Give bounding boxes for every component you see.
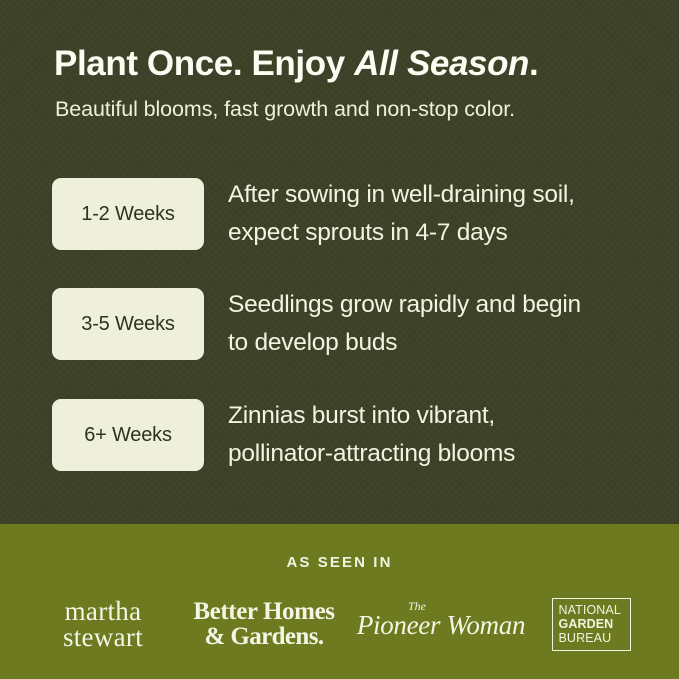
- timeline-list: 1-2 Weeks After sowing in well-draining …: [0, 0, 679, 524]
- logo-ngb-box: NATIONAL GARDEN BUREAU: [552, 598, 631, 651]
- timeline-badge-label: 3-5 Weeks: [81, 313, 174, 336]
- logo-the-pioneer-woman: The Pioneer Woman: [352, 584, 530, 664]
- timeline-badge: 6+ Weeks: [52, 399, 204, 471]
- logo-national-garden-bureau: NATIONAL GARDEN BUREAU: [530, 584, 652, 664]
- logo-pioneer-woman-main: Pioneer Woman: [356, 610, 526, 640]
- timeline-description: After sowing in well-draining soil, expe…: [228, 176, 648, 252]
- timeline-row: 3-5 Weeks Seedlings grow rapidly and beg…: [52, 288, 652, 360]
- timeline-badge: 1-2 Weeks: [52, 178, 204, 250]
- timeline-row: 1-2 Weeks After sowing in well-draining …: [52, 178, 652, 250]
- press-logo-list: martha stewart Better Homes & Gardens. T…: [0, 584, 679, 664]
- timeline-row: 6+ Weeks Zinnias burst into vibrant, pol…: [52, 399, 652, 471]
- logo-better-homes-and-gardens: Better Homes & Gardens.: [178, 584, 350, 664]
- timeline-description: Zinnias burst into vibrant, pollinator-a…: [228, 397, 648, 473]
- logo-ngb-line1: NATIONAL: [559, 603, 621, 617]
- logo-martha-stewart-line2: stewart: [63, 624, 143, 650]
- logo-bhg-line1: Better Homes: [193, 599, 334, 624]
- logo-martha-stewart: martha stewart: [28, 584, 178, 664]
- as-seen-in-heading: AS SEEN IN: [0, 554, 679, 571]
- timeline-badge-label: 6+ Weeks: [84, 424, 172, 447]
- logo-ngb-line2: GARDEN: [559, 617, 614, 631]
- timeline-description: Seedlings grow rapidly and begin to deve…: [228, 286, 648, 362]
- promo-poster: Plant Once. Enjoy All Season. Beautiful …: [0, 0, 679, 679]
- logo-martha-stewart-line1: martha: [63, 598, 143, 624]
- logo-bhg-line2: & Gardens.: [193, 624, 334, 649]
- as-seen-in-footer: AS SEEN IN martha stewart Better Homes &…: [0, 524, 679, 679]
- timeline-badge-label: 1-2 Weeks: [81, 203, 174, 226]
- timeline-badge: 3-5 Weeks: [52, 288, 204, 360]
- logo-ngb-line3: BUREAU: [559, 631, 612, 645]
